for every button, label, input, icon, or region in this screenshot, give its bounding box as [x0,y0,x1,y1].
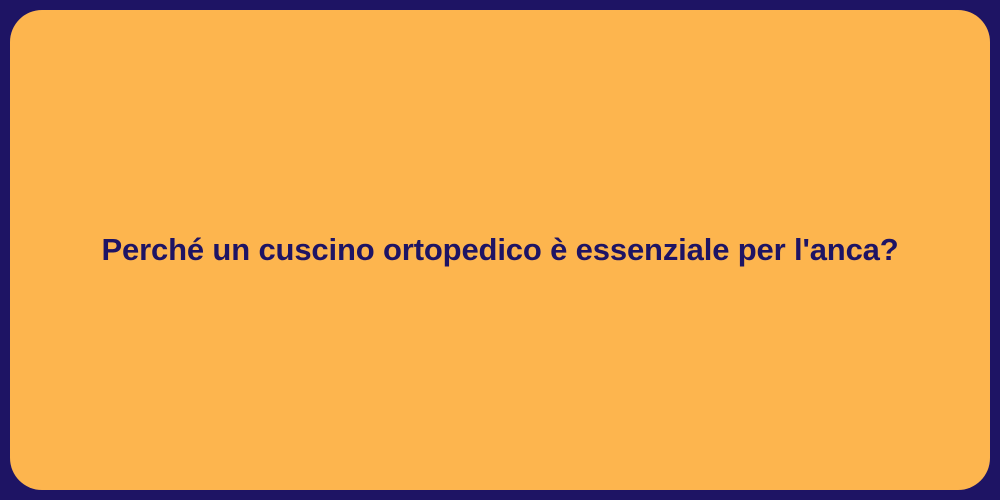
page-title: Perché un cuscino ortopedico è essenzial… [101,231,898,270]
banner-canvas: Perché un cuscino ortopedico è essenzial… [0,0,1000,500]
content-card: Perché un cuscino ortopedico è essenzial… [10,10,990,490]
